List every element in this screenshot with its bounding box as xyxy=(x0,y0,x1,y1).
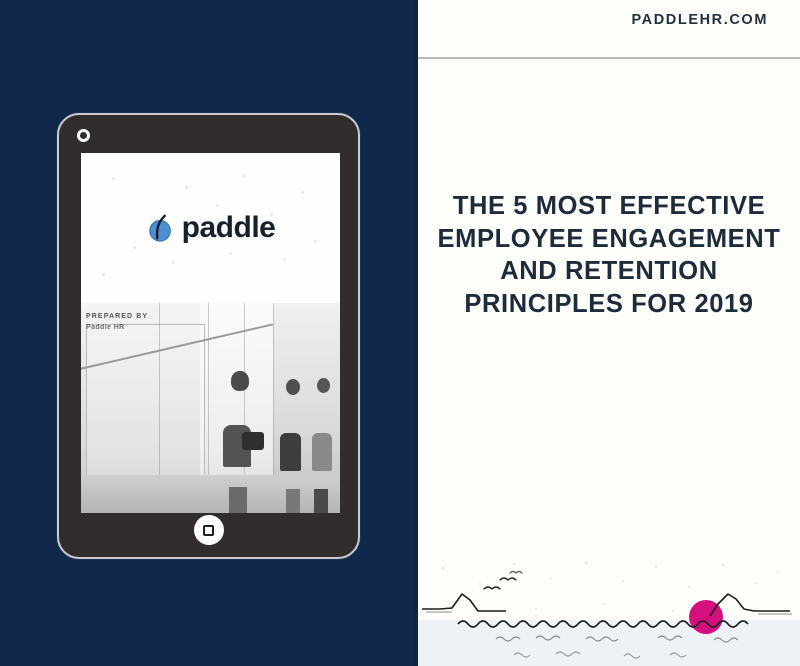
bird-marks xyxy=(484,572,522,590)
paddle-wordmark: paddle xyxy=(182,213,276,243)
header-divider xyxy=(418,57,800,59)
tablet-mockup: paddle xyxy=(57,113,360,559)
photo-person-2 xyxy=(280,433,301,471)
paddle-logo: paddle xyxy=(146,213,276,243)
paddle-blade-icon xyxy=(146,213,176,243)
mountain-ridge-left xyxy=(422,594,506,612)
prepared-by-value: Paddle HR xyxy=(86,324,148,331)
photo-shoulder-bag xyxy=(242,432,264,450)
home-button-square-icon xyxy=(203,525,214,536)
photo-floor xyxy=(81,475,340,513)
content-panel: PADDLEHR.COM THE 5 MOST EFFECTIVE EMPLOY… xyxy=(418,0,800,666)
front-camera-icon xyxy=(77,129,90,142)
screen-logo-area: paddle xyxy=(81,153,340,303)
site-url-label: PADDLEHR.COM xyxy=(631,12,768,28)
cover-photo: PREPARED BY Paddle HR xyxy=(81,303,340,513)
cover-page: paddle xyxy=(0,0,800,666)
home-button[interactable] xyxy=(194,515,224,545)
prepared-by-block: PREPARED BY Paddle HR xyxy=(86,313,148,331)
photo-person-3 xyxy=(312,433,332,471)
page-title: THE 5 MOST EFFECTIVE EMPLOYEE ENGAGEMENT… xyxy=(434,190,784,321)
prepared-by-label: PREPARED BY xyxy=(86,313,148,320)
speckle-dots xyxy=(442,562,779,612)
mountain-and-waves-illustration xyxy=(418,554,800,666)
tablet-screen: paddle xyxy=(81,153,340,513)
